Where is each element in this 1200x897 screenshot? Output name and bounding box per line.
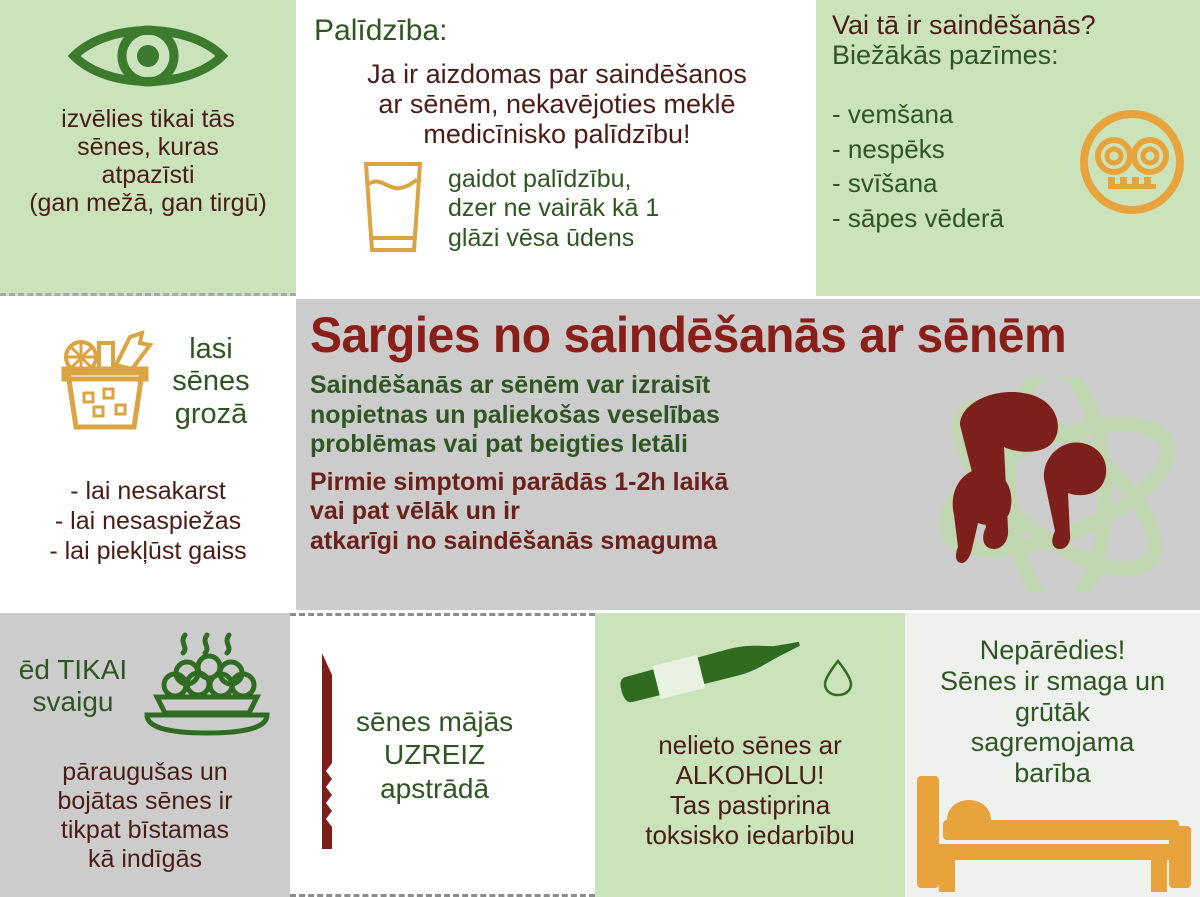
- help-body: Ja ir aizdomas par saindēšanos ar sēnēm,…: [314, 59, 800, 150]
- signs-subtitle: Biežākās pazīmes:: [832, 40, 1200, 71]
- alcohol-label-line-1: nelieto sēnes ar: [595, 730, 905, 760]
- help-glass-text: gaidot palīdzību, dzer ne vairāk kā 1 gl…: [448, 165, 659, 254]
- panel-main-headline: Sargies no saindēšanās ar sēnēm Saindēša…: [296, 299, 1200, 610]
- panel-eat-only-fresh: ēd TIKAI svaigu: [0, 613, 290, 897]
- basket-label-line-3: grozā: [172, 398, 249, 430]
- alcohol-icon-row: [595, 629, 905, 714]
- basket-bullet-3: - lai piekļūst gaiss: [0, 536, 296, 566]
- eye-caption-line-2: sēnes, kuras: [29, 133, 267, 161]
- bed-label-line-2: Sēnes ir smaga un: [905, 666, 1200, 697]
- picnic-basket-icon: [46, 321, 162, 442]
- panel-poisoning-signs: Vai tā ir saindēšanās? Biežākās pazīmes:…: [816, 0, 1200, 296]
- mushrooms-atom-icon: [892, 377, 1192, 597]
- help-glass-line-3: glāzi vēsa ūdens: [448, 224, 659, 254]
- alcohol-label-line-3: Tas pastiprina: [595, 790, 905, 820]
- basket-label-line-1: lasi: [172, 333, 249, 365]
- bed-label-line-1: Nepārēdies!: [905, 635, 1200, 666]
- basket-top-row: lasi sēnes grozā: [0, 321, 296, 442]
- signs-question: Vai tā ir saindēšanās?: [832, 10, 1200, 40]
- fresh-note: pāraugušas un bojātas sēnes ir tikpat bī…: [0, 758, 290, 874]
- panel-process-at-home: sēnes mājās UZREIZ apstrādā: [290, 613, 595, 897]
- alcohol-label: nelieto sēnes ar ALKOHOLU! Tas pastiprin…: [595, 730, 905, 851]
- knife-label: sēnes mājās UZREIZ apstrādā: [356, 705, 513, 806]
- fresh-note-line-3: tikpat bīstamas: [0, 816, 290, 845]
- eye-caption-line-3: atpazīsti: [29, 161, 267, 189]
- basket-bullets: - lai nesakarst - lai nesaspiežas - lai …: [0, 476, 296, 566]
- help-glass-line-1: gaidot palīdzību,: [448, 165, 659, 195]
- fresh-note-line-4: kā indīgās: [0, 845, 290, 874]
- wine-bottle-icon: [617, 629, 813, 714]
- help-body-line-1: Ja ir aizdomas par saindēšanos: [314, 59, 800, 89]
- infographic-poster: izvēlies tikai tās sēnes, kuras atpazīst…: [0, 0, 1200, 897]
- steaming-plate-icon: [131, 627, 271, 744]
- bed-label: Nepārēdies! Sēnes ir smaga un grūtāk sag…: [905, 635, 1200, 789]
- basket-label-line-2: sēnes: [172, 365, 249, 397]
- help-body-line-3: medicīnisko palīdzību!: [314, 119, 800, 149]
- fresh-note-line-2: bojātas sēnes ir: [0, 787, 290, 816]
- alcohol-label-line-2: ALKOHOLU!: [595, 760, 905, 790]
- basket-bullet-1: - lai nesakarst: [0, 476, 296, 506]
- eye-caption-line-1: izvēlies tikai tās: [29, 105, 267, 133]
- alcohol-label-line-4: toksisko iedarbību: [595, 820, 905, 850]
- fresh-top-row: ēd TIKAI svaigu: [0, 627, 290, 744]
- dizzy-face-icon: [1078, 108, 1186, 221]
- basket-label: lasi sēnes grozā: [172, 333, 249, 430]
- knife-icon: [308, 653, 348, 858]
- eye-caption-line-4: (gan mežā, gan tirgū): [29, 189, 267, 217]
- water-glass-icon: [356, 158, 430, 261]
- help-lead: Palīdzība:: [314, 14, 800, 47]
- help-body-line-2: ar sēnēm, nekavējoties meklē: [314, 89, 800, 119]
- fresh-label-line-2: svaigu: [19, 686, 127, 718]
- eye-icon: [68, 18, 228, 99]
- bed-icon: [911, 776, 1200, 897]
- panel-do-not-overeat: Nepārēdies! Sēnes ir smaga un grūtāk sag…: [905, 613, 1200, 897]
- bed-label-line-3: grūtāk: [905, 697, 1200, 728]
- fresh-note-line-1: pāraugušas un: [0, 758, 290, 787]
- water-drop-icon: [821, 657, 855, 702]
- fresh-label: ēd TIKAI svaigu: [19, 654, 127, 718]
- bed-label-line-4: sagremojama: [905, 727, 1200, 758]
- panel-collect-in-basket: lasi sēnes grozā - lai nesakarst - lai n…: [0, 299, 296, 610]
- knife-label-line-1: sēnes mājās: [356, 705, 513, 739]
- eye-caption: izvēlies tikai tās sēnes, kuras atpazīst…: [29, 105, 267, 217]
- page-title: Sargies no saindēšanās ar sēnēm: [310, 309, 1164, 361]
- knife-label-line-3: apstrādā: [356, 772, 513, 806]
- panel-choose-known-mushrooms: izvēlies tikai tās sēnes, kuras atpazīst…: [0, 0, 296, 296]
- panel-no-alcohol: nelieto sēnes ar ALKOHOLU! Tas pastiprin…: [595, 613, 905, 897]
- knife-label-line-2: UZREIZ: [356, 738, 513, 772]
- help-glass-row: gaidot palīdzību, dzer ne vairāk kā 1 gl…: [314, 158, 800, 261]
- panel-seek-medical-help: Palīdzība: Ja ir aizdomas par saindēšano…: [296, 0, 816, 296]
- basket-bullet-2: - lai nesaspiežas: [0, 506, 296, 536]
- fresh-label-line-1: ēd TIKAI: [19, 654, 127, 686]
- help-glass-line-2: dzer ne vairāk kā 1: [448, 194, 659, 224]
